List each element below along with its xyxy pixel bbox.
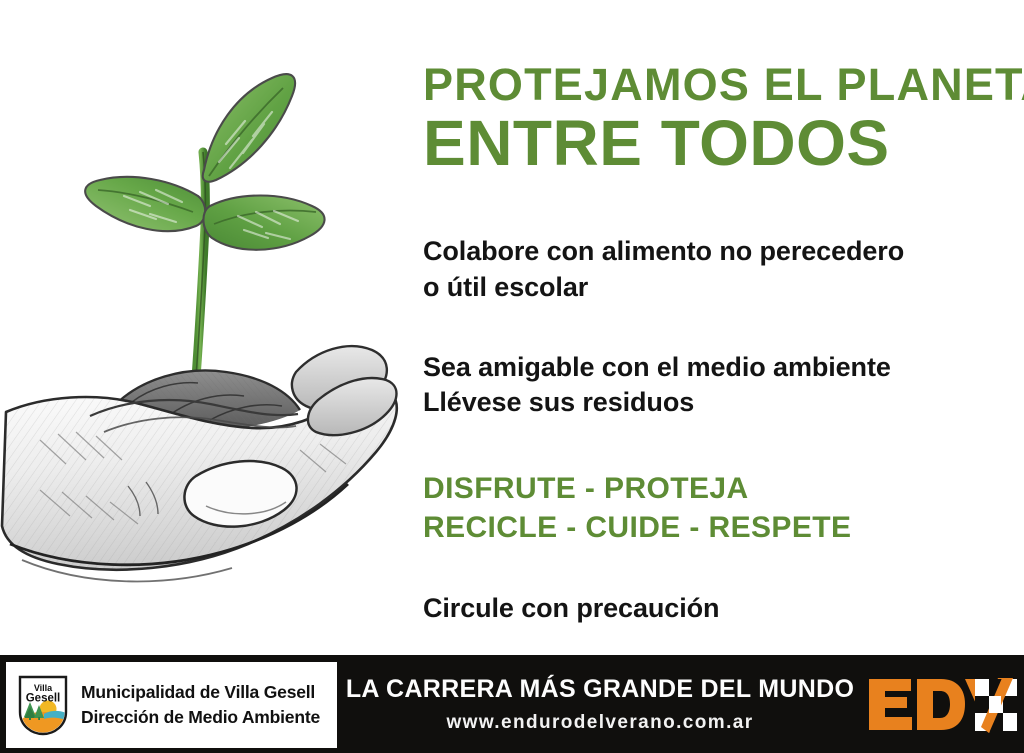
villa-gesell-crest-icon: Villa Gesell [16, 672, 70, 738]
municipality-panel: Villa Gesell Municipalidad de Villa Gese… [6, 662, 337, 748]
message-environment-line-2: Llévese sus residuos [423, 385, 1003, 421]
headline-line-1: PROTEJAMOS EL PLANETA [423, 62, 1003, 108]
municipality-text: Municipalidad de Villa Gesell Dirección … [81, 680, 320, 730]
message-slogan: DISFRUTE - PROTEJA RECICLE - CUIDE - RES… [423, 469, 1003, 547]
banner-tagline: LA CARRERA MÁS GRANDE DEL MUNDO [346, 676, 854, 704]
event-banner: LA CARRERA MÁS GRANDE DEL MUNDO www.endu… [345, 662, 855, 748]
seedling-graphic [85, 74, 324, 378]
crest-text-gesell: Gesell [26, 693, 61, 705]
banner-website[interactable]: www.endurodelverano.com.ar [446, 713, 753, 734]
message-donation-line-2: o útil escolar [423, 270, 1003, 306]
message-column: PROTEJAMOS EL PLANETA ENTRE TODOS Colabo… [423, 62, 1003, 627]
message-slogan-line-1: DISFRUTE - PROTEJA [423, 469, 1003, 508]
checkered-flag-icon [975, 678, 1017, 733]
hand-seedling-illustration [0, 20, 410, 645]
message-donation: Colabore con alimento no perecedero o út… [423, 234, 1003, 305]
municipality-line-1: Municipalidad de Villa Gesell [81, 680, 320, 705]
crest-text-villa: Villa [34, 683, 53, 693]
footer-bar: Villa Gesell Municipalidad de Villa Gese… [0, 655, 1024, 753]
poster-root: PROTEJAMOS EL PLANETA ENTRE TODOS Colabo… [0, 0, 1024, 753]
message-slogan-line-2: RECICLE - CUIDE - RESPETE [423, 508, 1003, 547]
edv-logo [865, 665, 1017, 745]
message-driving-line-1: Circule con precaución [423, 591, 1003, 627]
message-driving: Circule con precaución [423, 591, 1003, 627]
municipality-line-2: Dirección de Medio Ambiente [81, 705, 320, 730]
message-environment: Sea amigable con el medio ambiente Lléve… [423, 350, 1003, 421]
headline-line-2: ENTRE TODOS [423, 110, 1003, 177]
message-donation-line-1: Colabore con alimento no perecedero [423, 234, 1003, 270]
message-environment-line-1: Sea amigable con el medio ambiente [423, 350, 1003, 386]
